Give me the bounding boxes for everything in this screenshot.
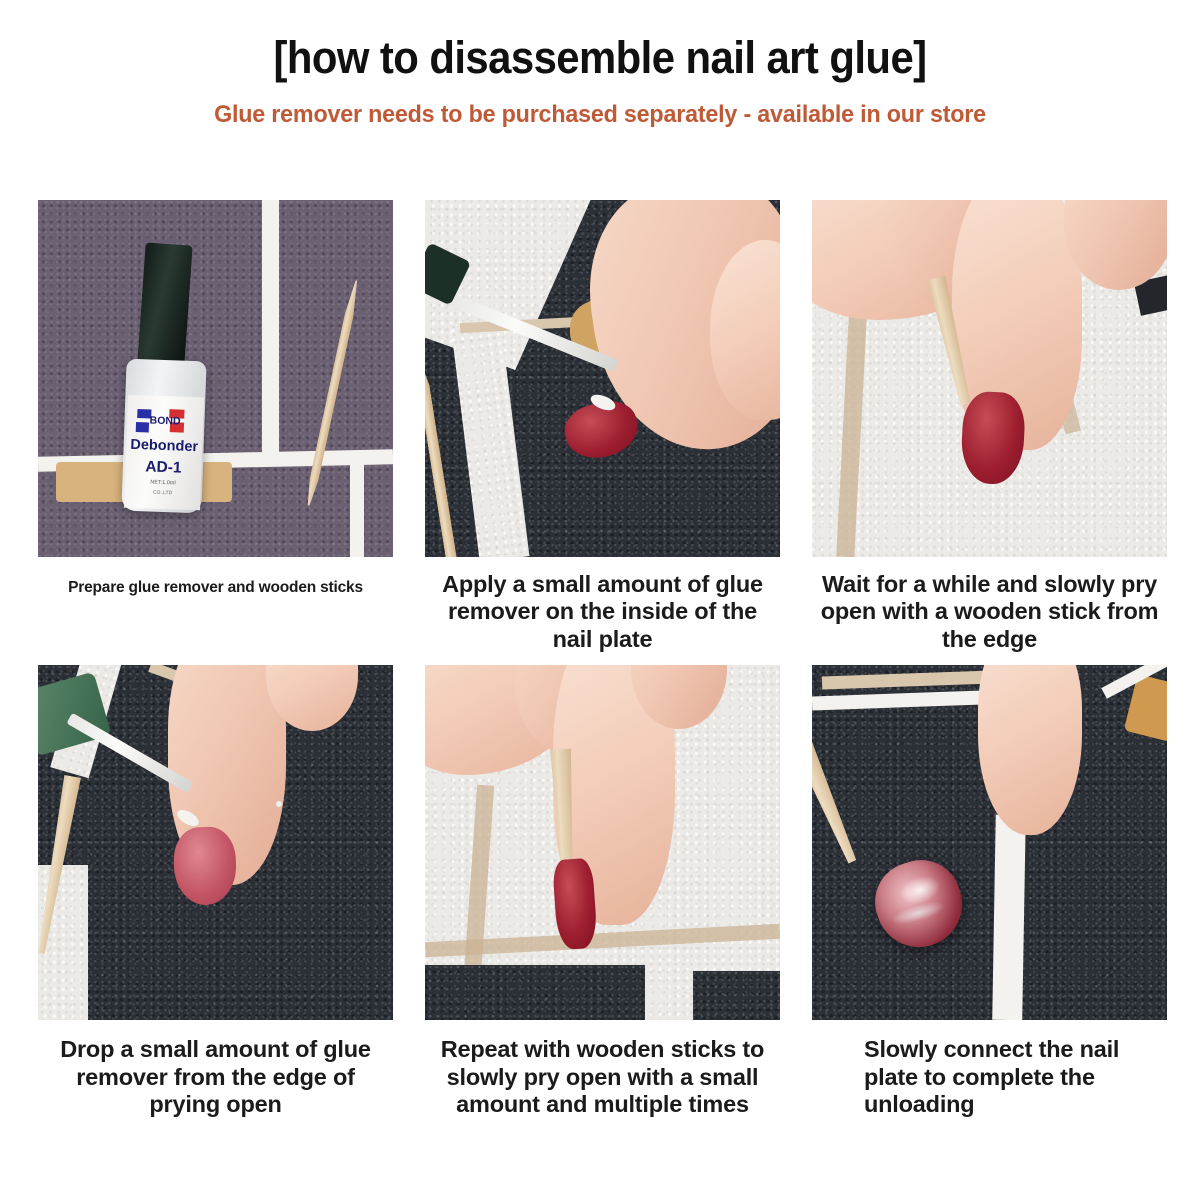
- step-card-1: BOND Debonder AD-1 NET:1.0ml CO.,LTD Pre…: [38, 200, 393, 653]
- step-card-4: Drop a small amount of glue remover from…: [38, 665, 393, 1118]
- infographic-page: [how to disassemble nail art glue] Glue …: [0, 0, 1200, 1200]
- white-stripe-vertical: [992, 815, 1026, 1020]
- step-caption-5: Repeat with wooden sticks to slowly pry …: [425, 1020, 780, 1118]
- label-net-content: NET:1.0ml: [125, 480, 201, 488]
- step-caption-2: Apply a small amount of glue remover on …: [425, 557, 780, 653]
- step-caption-3: Wait for a while and slowly pry open wit…: [812, 557, 1167, 653]
- step-photo-3: [812, 200, 1167, 557]
- step-card-3: Wait for a while and slowly pry open wit…: [812, 200, 1167, 653]
- step-caption-4: Drop a small amount of glue remover from…: [38, 1020, 393, 1118]
- step-card-5: Repeat with wooden sticks to slowly pry …: [425, 665, 780, 1118]
- step-photo-1: BOND Debonder AD-1 NET:1.0ml CO.,LTD: [38, 200, 393, 557]
- white-stripe-vertical: [262, 200, 279, 465]
- steps-row-bottom: Drop a small amount of glue remover from…: [38, 665, 1166, 1118]
- step-card-6: Slowly connect the nail plate to complet…: [812, 665, 1167, 1118]
- page-subtitle: Glue remover needs to be purchased separ…: [30, 101, 1170, 129]
- step-caption-6: Slowly connect the nail plate to complet…: [812, 1020, 1167, 1118]
- page-title: [how to disassemble nail art glue]: [42, 34, 1158, 81]
- step-caption-1: Prepare glue remover and wooden sticks: [38, 557, 393, 597]
- step-card-2: Apply a small amount of glue remover on …: [425, 200, 780, 653]
- label-manufacturer: CO.,LTD: [125, 490, 201, 498]
- step-photo-4: [38, 665, 393, 1020]
- bottle-label: BOND Debonder AD-1 NET:1.0ml CO.,LTD: [124, 395, 204, 511]
- dark-leather-patch-left: [425, 965, 645, 1020]
- dark-leather-patch-right: [693, 971, 780, 1020]
- steps-grid: BOND Debonder AD-1 NET:1.0ml CO.,LTD Pre…: [38, 200, 1166, 1119]
- steps-row-top: BOND Debonder AD-1 NET:1.0ml CO.,LTD Pre…: [38, 200, 1166, 653]
- step-photo-5: [425, 665, 780, 1020]
- step-photo-6: [812, 665, 1167, 1020]
- header: [how to disassemble nail art glue] Glue …: [0, 0, 1200, 129]
- label-model: AD-1: [125, 459, 201, 477]
- label-product-name: Debonder: [126, 438, 202, 455]
- white-stripe-vertical-right: [350, 462, 364, 557]
- step-photo-2: [425, 200, 780, 557]
